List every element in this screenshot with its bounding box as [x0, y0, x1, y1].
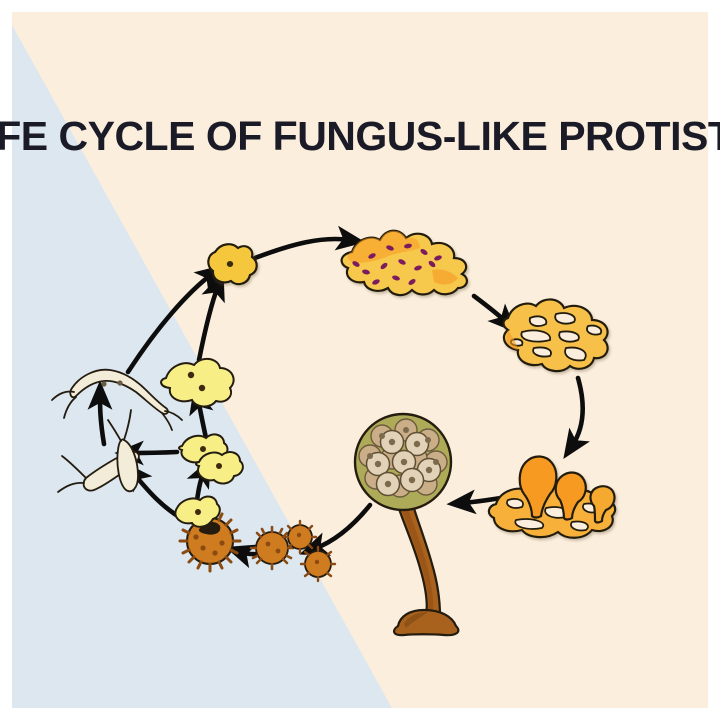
released-spore-3: [301, 547, 335, 581]
fused-swarm-cell-nucleus-2: [117, 380, 122, 385]
released-spore-2: [284, 521, 316, 553]
stage-amoeboid-cell: [208, 244, 256, 284]
released-spore-1: [251, 527, 293, 569]
sporangium-spores: [359, 419, 447, 497]
life-cycle-diagram: LIFE CYCLE OF FUNGUS-LIKE PROTISTS: [0, 0, 720, 720]
emerging-amoeba-nucleus: [195, 509, 201, 515]
life-cycle-poster: LIFE CYCLE OF FUNGUS-LIKE PROTISTS: [0, 0, 720, 720]
fused-swarm-cell-nucleus-1: [101, 381, 106, 386]
fused-amoeba-nucleus-1: [188, 372, 194, 378]
amoeboid-cell-nucleus: [227, 261, 233, 267]
fused-amoeba-nucleus-2: [199, 385, 205, 391]
poster-title: LIFE CYCLE OF FUNGUS-LIKE PROTISTS: [0, 113, 720, 159]
